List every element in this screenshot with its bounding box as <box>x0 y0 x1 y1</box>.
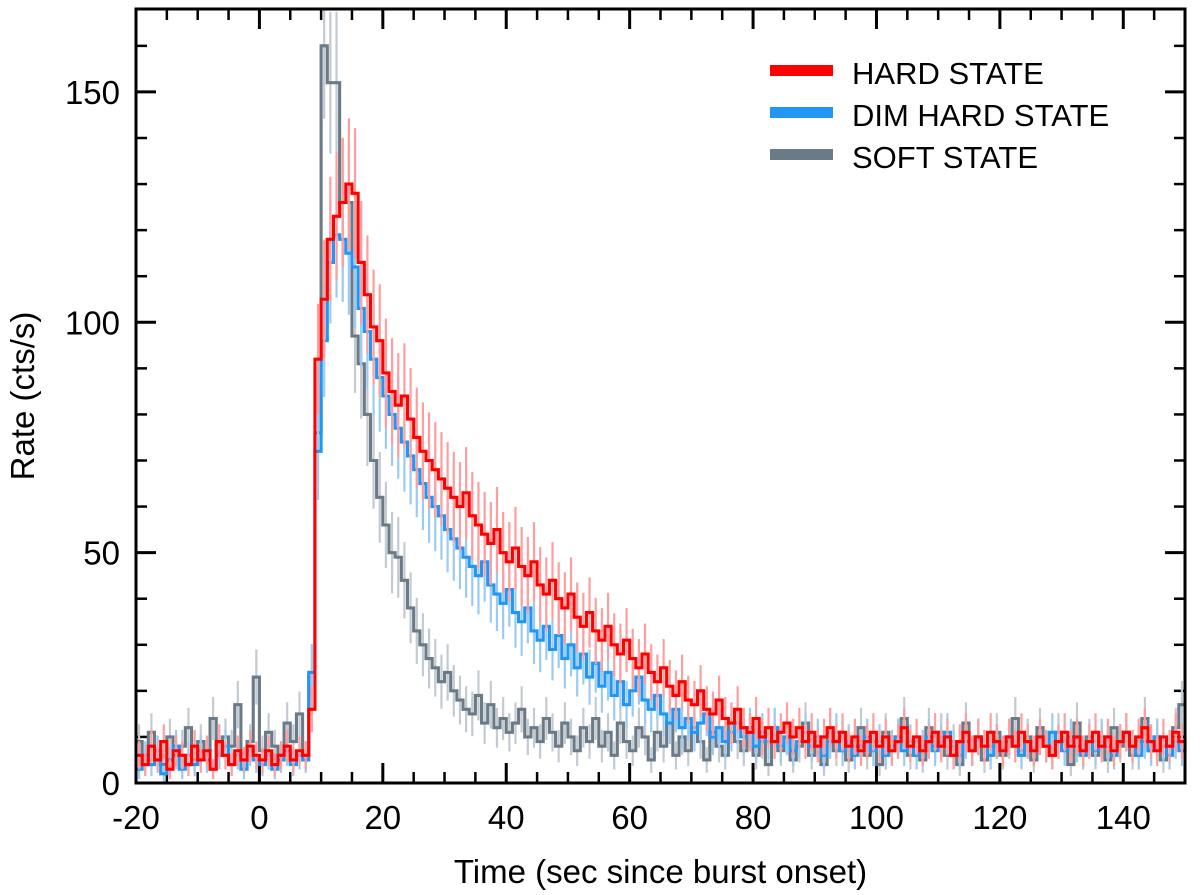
series-dim-hard-state <box>136 172 1185 782</box>
x-tick-label: -20 <box>112 799 160 836</box>
step-line <box>136 184 1185 769</box>
x-tick-label: 20 <box>364 799 401 836</box>
y-axis-title: Rate (cts/s) <box>4 312 41 481</box>
y-tick-label: 100 <box>65 304 120 341</box>
legend-swatch <box>770 107 833 118</box>
legend: HARD STATEDIM HARD STATESOFT STATE <box>770 56 1109 175</box>
x-tick-label: 60 <box>611 799 648 836</box>
x-tick-label: 120 <box>972 799 1027 836</box>
error-bars <box>139 172 1182 782</box>
y-tick-label: 50 <box>83 535 120 572</box>
step-line <box>136 235 1185 774</box>
x-tick-label: 80 <box>735 799 772 836</box>
y-tick-label: 150 <box>65 74 120 111</box>
x-tick-label: 100 <box>849 799 904 836</box>
x-tick-label: 40 <box>488 799 525 836</box>
chart-figure: -20020406080100120140 050100150 Time (se… <box>0 0 1200 895</box>
x-axis-title: Time (sec since burst onset) <box>454 853 867 890</box>
x-tick-label: 140 <box>1096 799 1151 836</box>
y-tick-labels: 050100150 <box>65 74 120 802</box>
legend-swatch <box>770 65 833 76</box>
series-hard-state <box>136 118 1185 779</box>
legend-label: HARD STATE <box>852 56 1044 91</box>
plot-canvas: -20020406080100120140 050100150 Time (se… <box>0 0 1200 895</box>
y-tick-label: 0 <box>102 765 120 802</box>
legend-swatch <box>770 149 833 160</box>
legend-label: DIM HARD STATE <box>852 98 1109 133</box>
x-tick-labels: -20020406080100120140 <box>112 799 1151 836</box>
x-tick-label: 0 <box>250 799 268 836</box>
legend-label: SOFT STATE <box>852 140 1038 175</box>
